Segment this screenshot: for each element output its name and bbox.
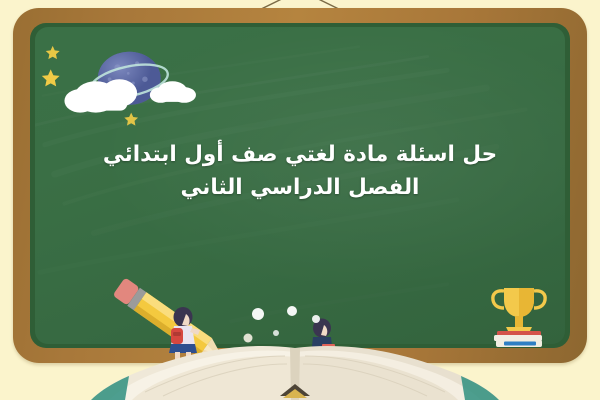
star-below-planet-icon	[124, 113, 138, 126]
poster-canvas: حل اسئلة مادة لغتي صف أول ابتدائي الفصل …	[0, 0, 600, 400]
star-top-left-small-icon	[46, 46, 60, 59]
star-left-medium-icon	[42, 69, 60, 86]
open-book-large-icon	[85, 330, 505, 400]
poster-title: حل اسئلة مادة لغتي صف أول ابتدائي الفصل …	[0, 138, 600, 204]
title-line-2: الفصل الدراسي الثاني	[0, 171, 600, 204]
cloud-large-left-icon	[64, 79, 137, 112]
title-line-1: حل اسئلة مادة لغتي صف أول ابتدائي	[0, 138, 600, 171]
